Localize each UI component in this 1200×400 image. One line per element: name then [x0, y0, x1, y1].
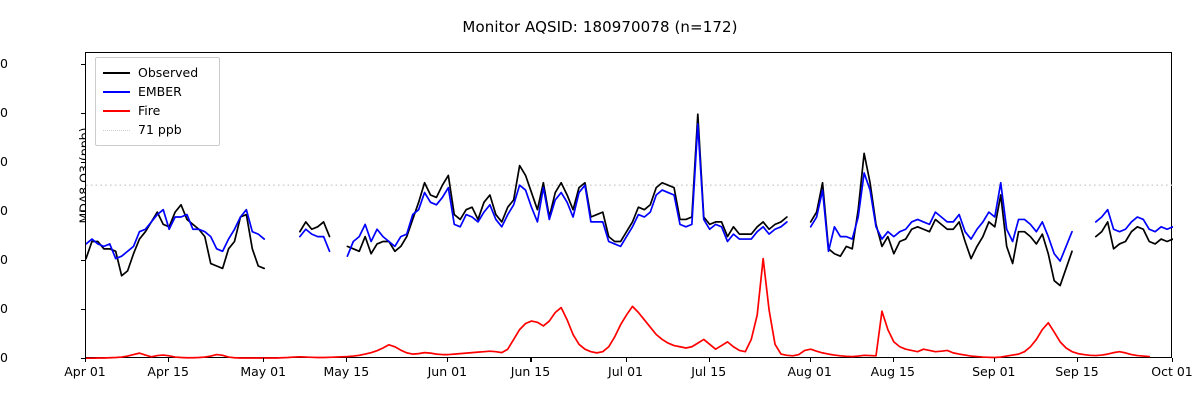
legend-item-label: 71 ppb — [138, 123, 182, 136]
x-tick-label: Jul 15 — [691, 364, 726, 379]
x-tick-mark — [1077, 358, 1078, 362]
y-tick-mark — [81, 64, 85, 65]
legend-swatch-icon — [103, 66, 130, 79]
y-tick-label: 120 — [0, 56, 8, 71]
x-tick-label: Aug 15 — [871, 364, 915, 379]
x-tick-label: Jul 01 — [608, 364, 643, 379]
chart-title: Monitor AQSID: 180970078 (n=172) — [0, 18, 1200, 36]
x-tick-mark — [994, 358, 995, 362]
x-tick-mark — [85, 358, 86, 362]
x-tick-mark — [626, 358, 627, 362]
legend-swatch-icon — [103, 104, 130, 117]
x-tick-mark — [1172, 358, 1173, 362]
series-line-ember — [86, 210, 264, 259]
x-tick-label: May 01 — [240, 364, 286, 379]
x-tick-label: Apr 01 — [64, 364, 106, 379]
series-line-fire — [86, 259, 1149, 359]
x-tick-mark — [810, 358, 811, 362]
series-line-observed — [300, 222, 330, 237]
x-tick-label: Jun 01 — [428, 364, 467, 379]
legend-item[interactable]: Observed — [103, 63, 212, 82]
x-tick-mark — [893, 358, 894, 362]
x-tick-mark — [530, 358, 531, 362]
x-tick-label: Sep 15 — [1055, 364, 1098, 379]
series-line-observed — [811, 153, 1072, 285]
x-tick-label: May 15 — [323, 364, 369, 379]
y-tick-label: 100 — [0, 105, 8, 120]
legend-item-label: Fire — [138, 104, 160, 117]
y-tick-mark — [81, 260, 85, 261]
legend-item-label: EMBER — [138, 85, 182, 98]
series-line-observed — [347, 114, 787, 254]
y-tick-mark — [81, 211, 85, 212]
legend-item[interactable]: EMBER — [103, 82, 212, 101]
plot-svg — [86, 53, 1173, 359]
y-tick-label: 20 — [0, 301, 8, 316]
y-tick-label: 60 — [0, 203, 8, 218]
legend-item-label: Observed — [138, 66, 198, 79]
chart-legend: ObservedEMBERFire71 ppb — [95, 57, 220, 146]
legend-item[interactable]: 71 ppb — [103, 120, 212, 139]
y-tick-mark — [81, 309, 85, 310]
x-tick-mark — [447, 358, 448, 362]
x-tick-label: Oct 01 — [1151, 364, 1193, 379]
y-tick-mark — [81, 113, 85, 114]
series-line-ember — [300, 229, 330, 251]
x-tick-mark — [263, 358, 264, 362]
x-tick-mark — [168, 358, 169, 362]
y-tick-mark — [81, 162, 85, 163]
plot-area — [85, 52, 1172, 358]
legend-item[interactable]: Fire — [103, 101, 212, 120]
x-tick-mark — [709, 358, 710, 362]
y-tick-label: 40 — [0, 252, 8, 267]
x-tick-label: Sep 01 — [972, 364, 1015, 379]
series-line-observed — [86, 205, 264, 276]
x-tick-mark — [346, 358, 347, 362]
legend-swatch-icon — [103, 85, 130, 98]
series-line-ember — [347, 124, 787, 256]
series-line-observed — [1096, 222, 1173, 249]
x-tick-label: Apr 15 — [147, 364, 189, 379]
y-tick-label: 0 — [0, 350, 8, 365]
chart-figure: Monitor AQSID: 180970078 (n=172) MDA8 O3… — [0, 0, 1200, 400]
x-tick-label: Jun 15 — [511, 364, 550, 379]
x-tick-label: Aug 01 — [788, 364, 832, 379]
y-tick-label: 80 — [0, 154, 8, 169]
legend-swatch-icon — [103, 123, 130, 136]
